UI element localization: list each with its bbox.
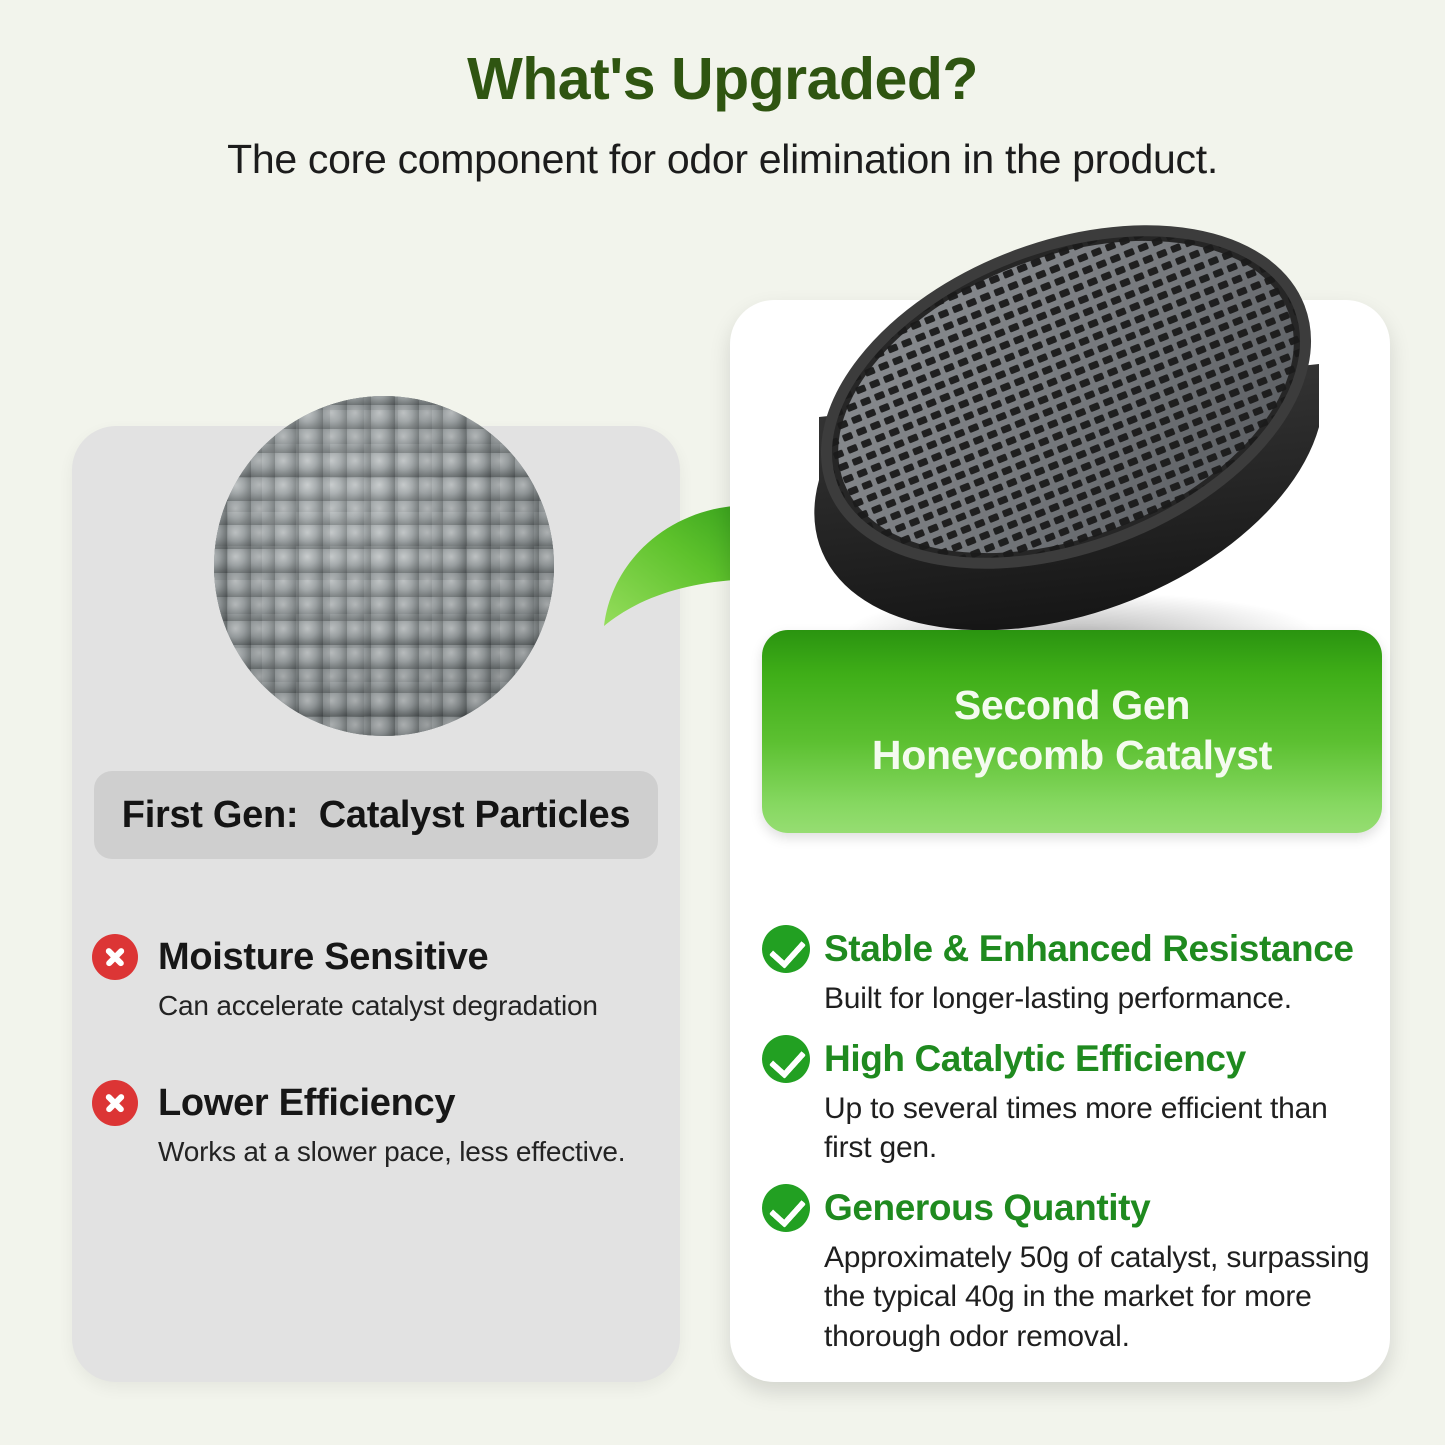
banner-line-1: Second Gen: [954, 681, 1190, 730]
bullet-description: Approximately 50g of catalyst, surpassin…: [824, 1238, 1382, 1357]
bullet-title: Moisture Sensitive: [158, 936, 488, 979]
second-gen-panel: Second Gen Honeycomb Catalyst Stable & E…: [730, 300, 1390, 1382]
honeycomb-catalyst-puck-photo: [766, 212, 1366, 682]
bullet-description: Works at a slower pace, less effective.: [158, 1136, 672, 1168]
bullet-description: Can accelerate catalyst degradation: [158, 990, 672, 1022]
bullet-header: Lower Efficiency: [92, 1080, 672, 1126]
bullet-header: Stable & Enhanced Resistance: [762, 925, 1382, 973]
list-item: Stable & Enhanced Resistance Built for l…: [762, 925, 1382, 1019]
list-item: Lower Efficiency Works at a slower pace,…: [92, 1080, 672, 1168]
first-gen-label-text: First Gen: Catalyst Particles: [122, 794, 630, 837]
first-gen-label: First Gen: Catalyst Particles: [94, 771, 658, 859]
bullet-title: Stable & Enhanced Resistance: [824, 928, 1354, 970]
list-item: High Catalytic Efficiency Up to several …: [762, 1035, 1382, 1168]
second-gen-banner: Second Gen Honeycomb Catalyst: [762, 630, 1382, 833]
page-subtitle: The core component for odor elimination …: [0, 136, 1445, 183]
catalyst-particles-photo: [214, 396, 554, 736]
check-circle-icon: [762, 1184, 810, 1232]
bullet-description: Up to several times more efficient than …: [824, 1089, 1382, 1168]
bullet-header: Moisture Sensitive: [92, 934, 672, 980]
first-gen-panel: First Gen: Catalyst Particles Moisture S…: [72, 426, 680, 1382]
x-circle-icon: [92, 934, 138, 980]
first-gen-bullet-list: Moisture Sensitive Can accelerate cataly…: [92, 934, 672, 1226]
infographic-page: What's Upgraded? The core component for …: [0, 0, 1445, 1445]
list-item: Generous Quantity Approximately 50g of c…: [762, 1184, 1382, 1357]
x-circle-icon: [92, 1080, 138, 1126]
check-circle-icon: [762, 1035, 810, 1083]
second-gen-bullet-list: Stable & Enhanced Resistance Built for l…: [762, 925, 1382, 1373]
bullet-header: Generous Quantity: [762, 1184, 1382, 1232]
particles-vignette: [214, 396, 554, 736]
bullet-description: Built for longer-lasting performance.: [824, 979, 1382, 1019]
bullet-title: High Catalytic Efficiency: [824, 1038, 1246, 1080]
check-circle-icon: [762, 925, 810, 973]
bullet-header: High Catalytic Efficiency: [762, 1035, 1382, 1083]
list-item: Moisture Sensitive Can accelerate cataly…: [92, 934, 672, 1022]
banner-line-2: Honeycomb Catalyst: [872, 730, 1272, 781]
page-title: What's Upgraded?: [0, 46, 1445, 114]
bullet-title: Generous Quantity: [824, 1187, 1150, 1229]
bullet-title: Lower Efficiency: [158, 1082, 455, 1125]
header: What's Upgraded? The core component for …: [0, 0, 1445, 183]
